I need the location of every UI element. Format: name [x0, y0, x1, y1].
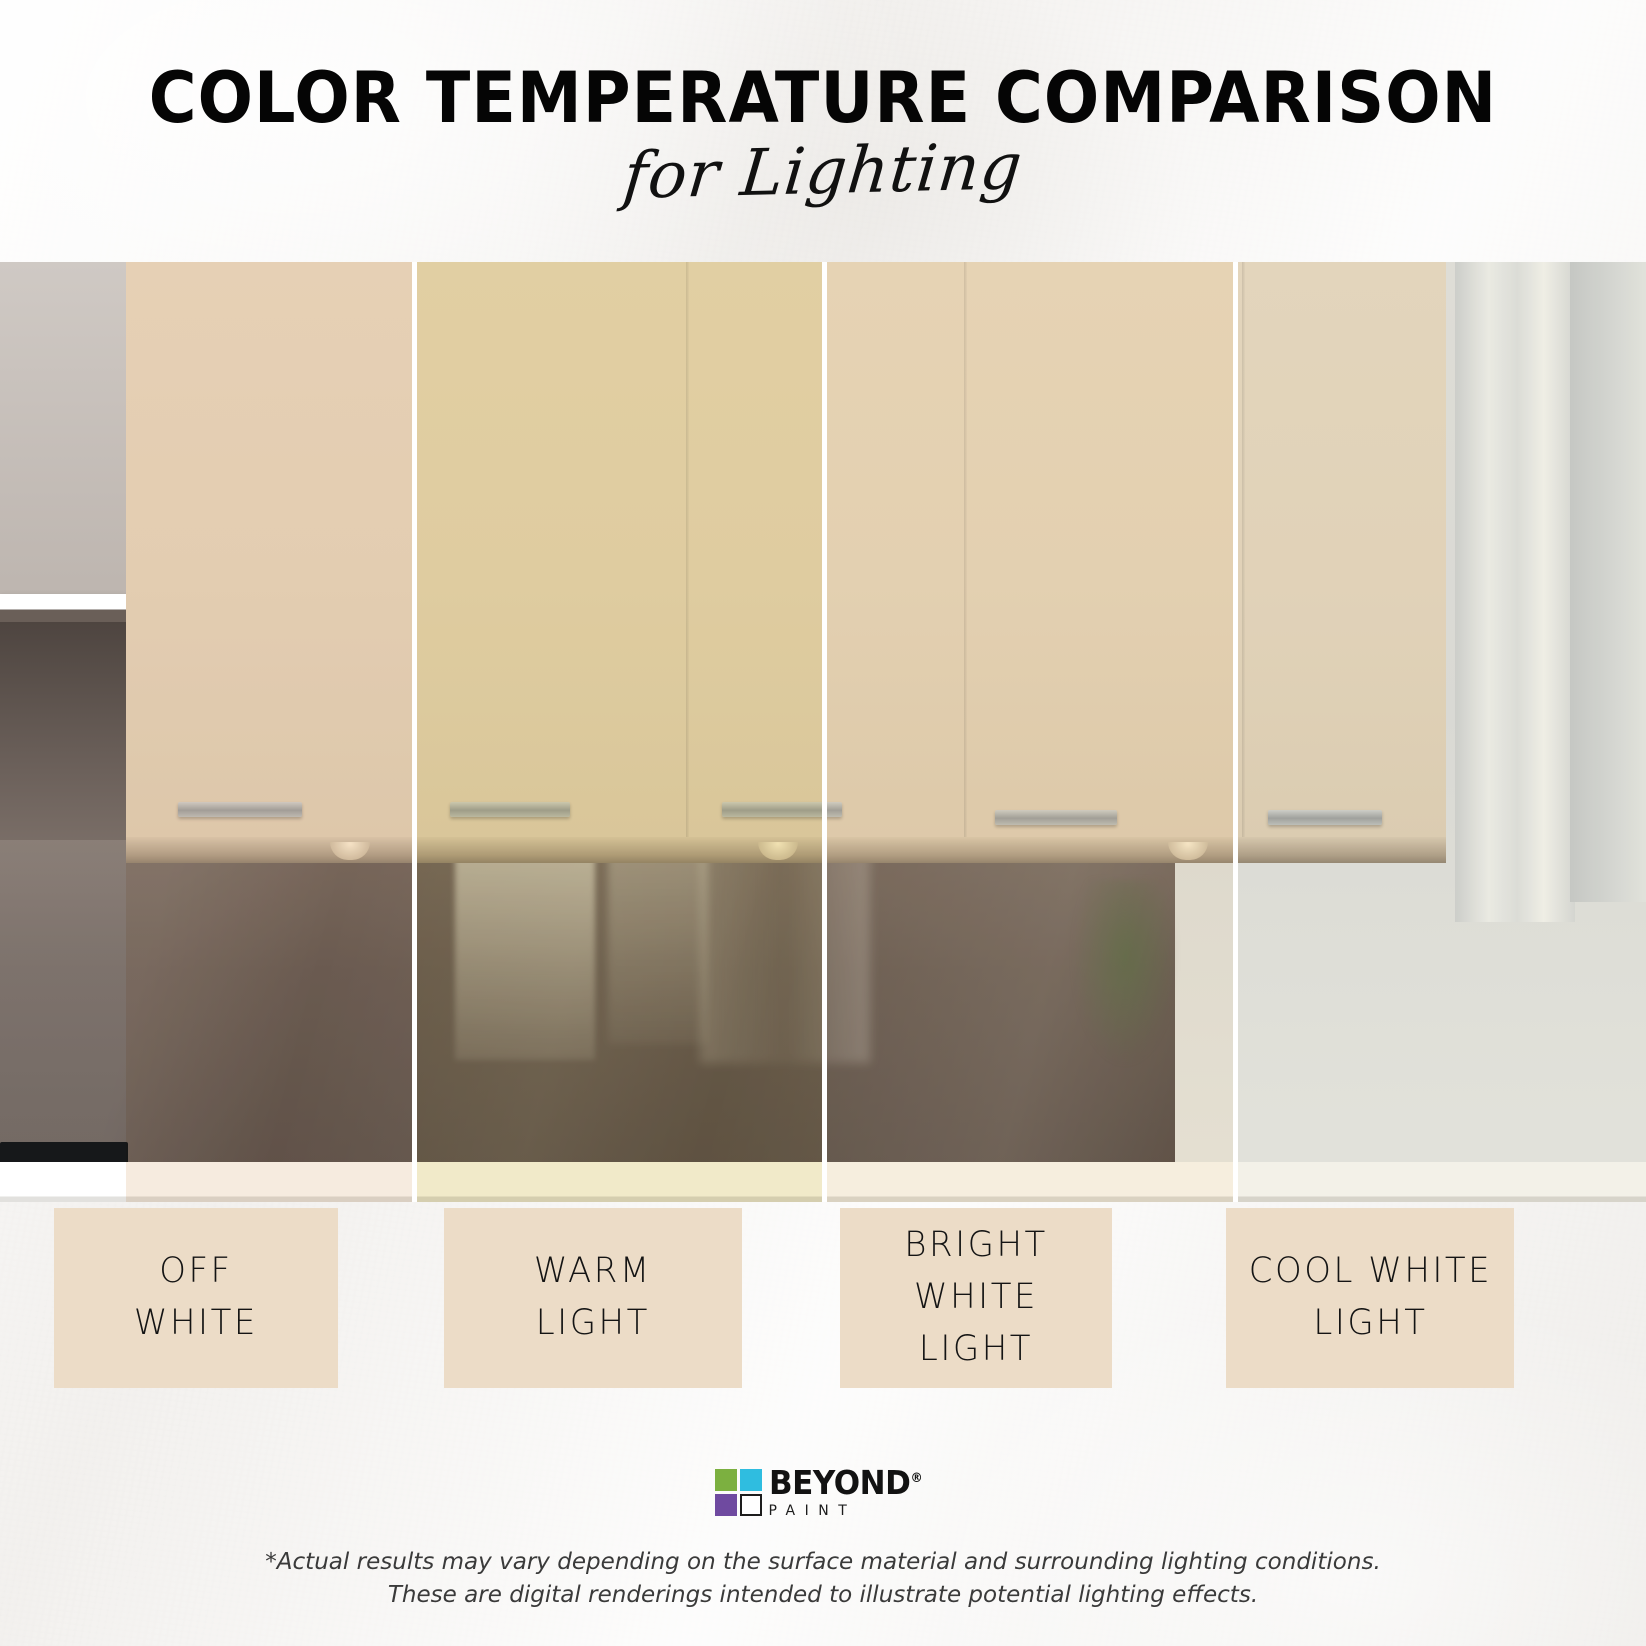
range-hood-body [0, 622, 128, 862]
left-wall [0, 262, 126, 602]
swatch-purple-icon [715, 1494, 737, 1516]
swatch-cyan-icon [740, 1469, 762, 1491]
label-card-text: WARMLIGHT [534, 1246, 652, 1350]
brand-logo: BEYOND® PAINT [0, 1468, 1646, 1519]
swatch-green-icon [715, 1469, 737, 1491]
kitchen-comparison-photo [0, 262, 1646, 1202]
color-strip-bright-white [827, 262, 1233, 1202]
label-card-off-white: OFFWHITE [54, 1208, 338, 1388]
label-card-bright-white-light: BRIGHT WHITELIGHT [840, 1208, 1112, 1388]
disclaimer: *Actual results may vary depending on th… [0, 1545, 1646, 1612]
logo-product-name: PAINT [769, 1503, 932, 1519]
label-card-cool-white-light: COOL WHITELIGHT [1226, 1208, 1514, 1388]
label-card-warm-light: WARMLIGHT [444, 1208, 742, 1388]
registered-mark-icon: ® [910, 1471, 922, 1486]
page-title: COLOR TEMPERATURE COMPARISON [58, 63, 1589, 133]
logo-swatch-grid [715, 1469, 762, 1516]
disclaimer-line-1: *Actual results may vary depending on th… [16, 1545, 1629, 1578]
label-card-text: COOL WHITELIGHT [1248, 1246, 1491, 1350]
strip-divider [412, 262, 417, 1202]
color-strip-warm-light [417, 262, 822, 1202]
label-card-text: BRIGHT WHITELIGHT [844, 1220, 1108, 1375]
color-strip-cool-white [1238, 262, 1646, 1202]
label-card-text: OFFWHITE [134, 1246, 258, 1350]
strip-divider [1233, 262, 1238, 1202]
header: COLOR TEMPERATURE COMPARISON for Lightin… [0, 0, 1646, 262]
color-strip-off-white [126, 262, 412, 1202]
strip-divider [822, 262, 827, 1202]
disclaimer-line-2: These are digital renderings intended to… [16, 1578, 1629, 1611]
logo-brand-text: BEYOND [769, 1463, 910, 1502]
swatch-white-icon [740, 1494, 762, 1516]
logo-brand-name: BEYOND® [769, 1468, 922, 1498]
